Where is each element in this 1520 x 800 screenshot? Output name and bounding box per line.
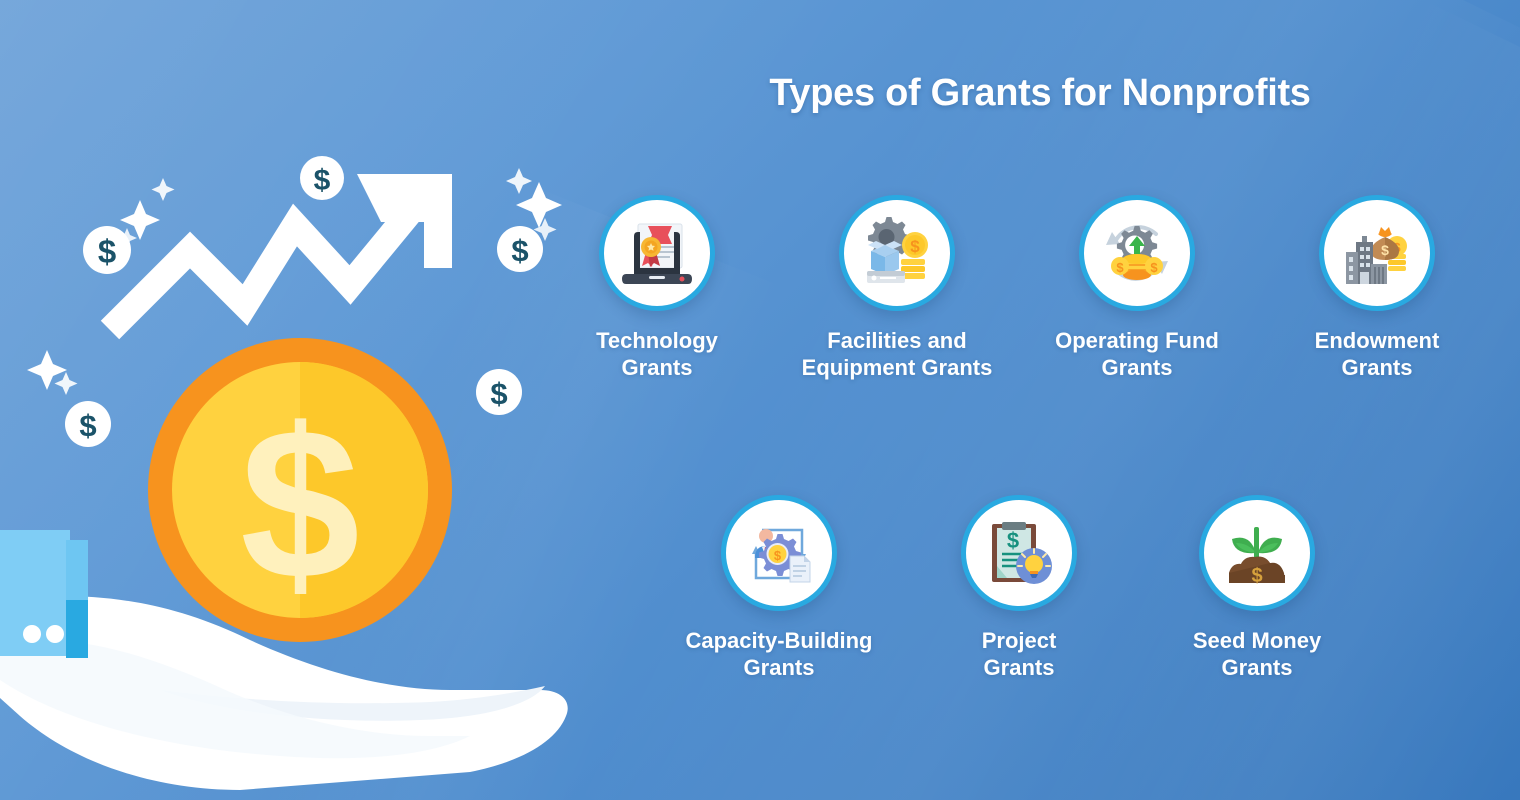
growth-arrow-icon [110, 174, 452, 330]
grant-item-endowment[interactable]: $ $ [1247, 195, 1507, 382]
page-title: Types of Grants for Nonprofits [600, 72, 1480, 115]
grant-icon-circle-technology [599, 195, 715, 311]
small-dollar-coin-icon: $ [65, 401, 111, 447]
grant-label-operating: Operating Fund Grants [1007, 328, 1267, 382]
svg-text:$: $ [1116, 260, 1124, 275]
small-dollar-coin-icon: $ [83, 226, 131, 274]
svg-text:$: $ [1381, 242, 1389, 258]
clipboard-lightbulb-icon: $ [982, 516, 1056, 590]
svg-text:$: $ [490, 376, 507, 411]
person-gear-document-cycle-icon: $ [740, 514, 818, 592]
gold-coin-icon: $ [148, 338, 452, 642]
svg-text:$: $ [98, 233, 116, 270]
grant-item-project[interactable]: $ Pro [889, 495, 1149, 682]
svg-text:$: $ [774, 548, 782, 563]
svg-text:$: $ [79, 408, 96, 443]
grant-label-technology: Technology Grants [527, 328, 787, 382]
shirt-sleeve [0, 530, 88, 658]
grant-icon-circle-endowment: $ $ [1319, 195, 1435, 311]
grant-icon-circle-facilities: $ [839, 195, 955, 311]
small-dollar-coin-icon: $ [300, 156, 344, 200]
small-dollar-coin-icon: $ [476, 369, 522, 415]
grant-label-seed: Seed Money Grants [1127, 628, 1387, 682]
grant-icon-circle-project: $ [961, 495, 1077, 611]
gear-box-coins-icon: $ [859, 215, 935, 291]
grant-item-seed[interactable]: $ Seed Money Grants [1127, 495, 1387, 682]
grant-item-facilities[interactable]: $ Facilities and Equipment Grants [767, 195, 1027, 382]
laptop-certificate-icon [618, 214, 696, 292]
grant-icon-circle-operating: $ $ [1079, 195, 1195, 311]
grant-label-capacity: Capacity-Building Grants [649, 628, 909, 682]
grant-item-capacity[interactable]: $ Capacity-Building Grants [649, 495, 909, 682]
grant-item-operating[interactable]: $ $ Operating Fund Grants [1007, 195, 1267, 382]
svg-text:$: $ [240, 383, 360, 624]
grant-item-technology[interactable]: Technology Grants [527, 195, 787, 382]
svg-text:$: $ [1007, 528, 1019, 553]
svg-text:$: $ [1150, 260, 1158, 275]
grant-icon-circle-seed: $ [1199, 495, 1315, 611]
grant-label-project: Project Grants [889, 628, 1149, 682]
svg-text:$: $ [1251, 565, 1262, 587]
sprout-soil-dollar-icon: $ [1219, 515, 1295, 591]
gear-cycle-coins-arrow-icon: $ $ [1098, 214, 1176, 292]
svg-text:$: $ [314, 164, 331, 197]
hand-coin-illustration: $ $ $ $ $ $ [0, 0, 580, 800]
grant-label-endowment: Endowment Grants [1247, 328, 1507, 382]
svg-text:$: $ [910, 237, 920, 256]
buildings-money-bag-icon: $ $ [1338, 214, 1416, 292]
grant-icon-circle-capacity: $ [721, 495, 837, 611]
grant-label-facilities: Facilities and Equipment Grants [767, 328, 1027, 382]
